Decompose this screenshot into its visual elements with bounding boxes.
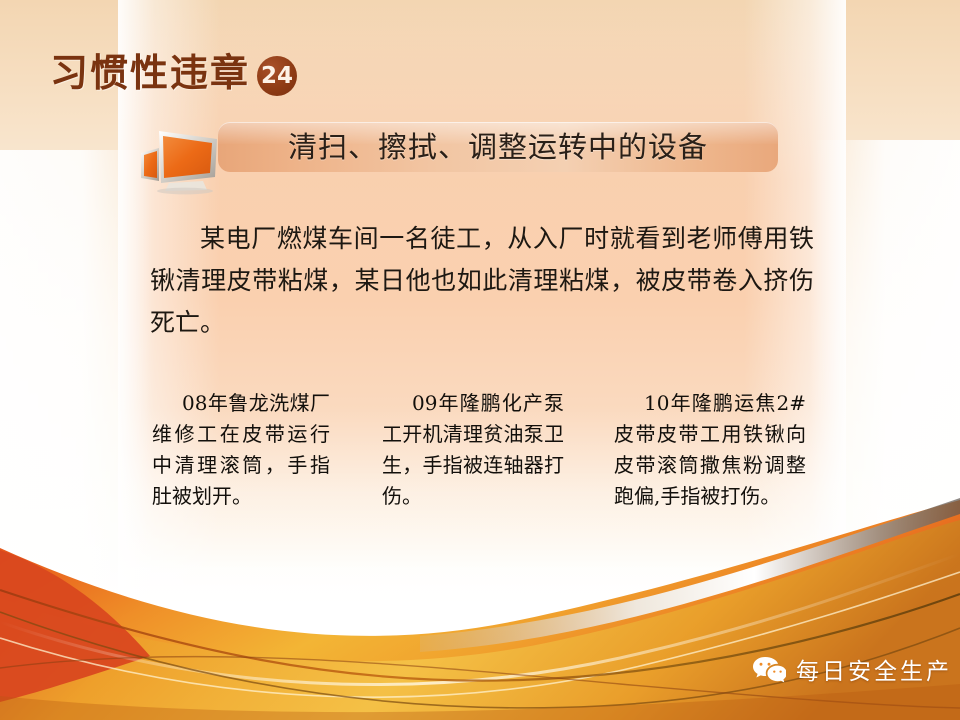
case-columns: 08年鲁龙洗煤厂维修工在皮带运行中清理滚筒，手指肚被划开。 09年隆鹏化产泵工开… bbox=[152, 388, 842, 512]
story-paragraph: 某电厂燃煤车间一名徒工，从入厂时就看到老师傅用铁锹清理皮带粘煤，某日他也如此清理… bbox=[150, 218, 814, 344]
status-badge: 24 bbox=[257, 56, 297, 96]
case-item-2: 09年隆鹏化产泵工开机清理贫油泵卫生，手指被连轴器打伤。 bbox=[382, 388, 564, 512]
case-item-3: 10年隆鹏运焦2#皮带皮带工用铁锹向皮带滚筒撒焦粉调整跑偏,手指被打伤。 bbox=[614, 388, 806, 512]
case-item-1: 08年鲁龙洗煤厂维修工在皮带运行中清理滚筒，手指肚被划开。 bbox=[152, 388, 330, 512]
page-title: 习惯性违章 bbox=[50, 42, 250, 97]
monitor-icon bbox=[133, 117, 221, 195]
wechat-icon bbox=[752, 655, 786, 683]
footer-brand-label: 每日安全生产 bbox=[796, 652, 952, 686]
footer-brand: 每日安全生产 bbox=[752, 652, 952, 686]
section-banner: 清扫、擦拭、调整运转中的设备 bbox=[218, 122, 778, 172]
slide-canvas: 习惯性违章 24 bbox=[0, 0, 960, 720]
banner-title: 清扫、擦拭、调整运转中的设备 bbox=[218, 122, 778, 172]
